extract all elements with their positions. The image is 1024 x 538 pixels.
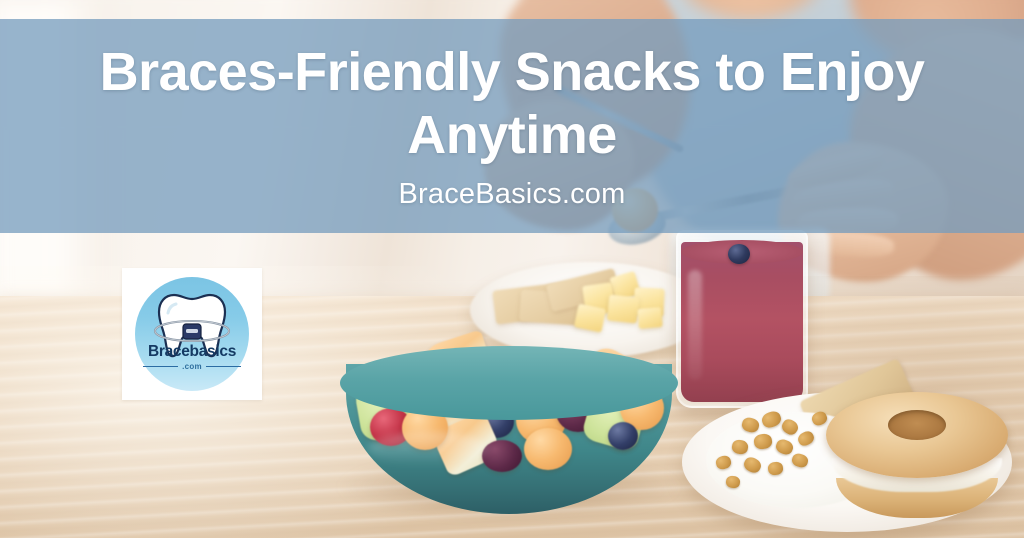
glass-highlight bbox=[688, 270, 702, 380]
bagel-top-half bbox=[826, 392, 1008, 478]
bagel-hole bbox=[888, 410, 946, 440]
logo-wordmark: Bracebasics bbox=[135, 343, 249, 361]
blueberry bbox=[608, 422, 638, 450]
headline-banner: Braces-Friendly Snacks to Enjoy Anytime … bbox=[0, 19, 1024, 233]
dark-grape bbox=[482, 440, 522, 472]
logo-circle: Bracebasics .com bbox=[135, 277, 249, 391]
cantaloupe-ball bbox=[524, 428, 572, 470]
logo-rule-left bbox=[143, 366, 178, 368]
page-title: Braces-Friendly Snacks to Enjoy Anytime bbox=[72, 41, 952, 166]
fruit-bowl bbox=[334, 336, 684, 526]
bowl-rim bbox=[340, 346, 678, 420]
social-share-image: Braces-Friendly Snacks to Enjoy Anytime … bbox=[0, 0, 1024, 538]
logo-dotcom: .com bbox=[182, 362, 202, 371]
site-url: BraceBasics.com bbox=[398, 178, 625, 211]
cheese-cube bbox=[607, 295, 640, 324]
tooth-with-braces-icon bbox=[135, 277, 249, 391]
blueberry-garnish bbox=[728, 244, 750, 264]
cheese-cube bbox=[637, 307, 663, 329]
logo-rule-right bbox=[206, 366, 241, 368]
logo-dotcom-row: .com bbox=[143, 362, 241, 371]
bowl-gloss bbox=[368, 432, 488, 466]
berry-smoothie bbox=[676, 230, 808, 408]
bracebasics-logo[interactable]: Bracebasics .com bbox=[122, 268, 262, 400]
bagel-with-cream-cheese bbox=[826, 392, 1008, 514]
